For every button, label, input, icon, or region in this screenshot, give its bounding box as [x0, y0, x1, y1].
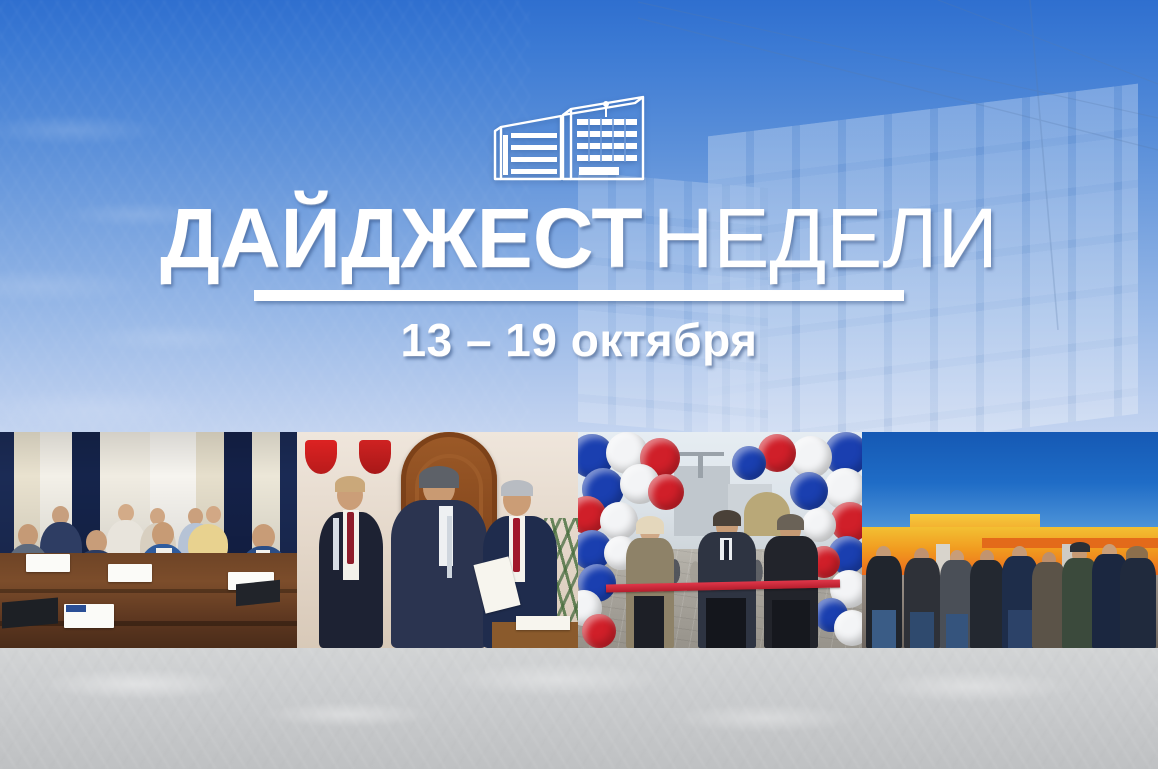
official-hair [335, 476, 365, 492]
digest-poster: ДАЙДЖЕСТНЕДЕЛИ 13 – 19 октября [0, 0, 1158, 769]
participant-legs [772, 600, 810, 648]
title-divider [254, 290, 904, 301]
official-hair [501, 480, 533, 496]
construction-crane-icon [698, 454, 703, 478]
participant-hair [713, 510, 741, 526]
participant-legs [634, 596, 664, 648]
balloon [834, 610, 862, 646]
participant-hair [777, 514, 804, 530]
balloon [732, 446, 766, 480]
photo-construction-site: Групповое фото на стройплощадке у оранже… [862, 432, 1158, 648]
group-member-legs [946, 614, 968, 648]
administration-building-logo-icon [493, 89, 665, 189]
page-title-bold: ДАЙДЖЕСТ [160, 191, 643, 285]
group-member-legs [872, 610, 896, 648]
balloon [582, 614, 616, 648]
photo-officials-office: Должностные лица в костюмах в кабинете с… [297, 432, 578, 648]
official-tie [513, 518, 520, 572]
balloon [648, 474, 684, 510]
photo-council-meeting: Заседание в зале с депутатами за деревян… [0, 432, 297, 648]
laptop [236, 580, 280, 607]
group-member-legs [910, 612, 934, 648]
bottom-texture-band [0, 648, 1158, 769]
photo-strip: Заседание в зале с депутатами за деревян… [0, 432, 1158, 648]
group-member-legs [1008, 610, 1032, 648]
nameplate-badge [66, 605, 86, 612]
participant-hair [636, 516, 664, 534]
desk-nameplate [108, 564, 152, 582]
laptop [2, 598, 58, 629]
group-member-body [970, 560, 1004, 648]
lanyard [333, 518, 339, 570]
lanyard [447, 516, 452, 578]
participant-legs [706, 598, 746, 648]
page-title: ДАЙДЖЕСТНЕДЕЛИ [0, 196, 1158, 280]
attendee-head [206, 506, 221, 523]
desk-papers [516, 616, 570, 630]
balloon [790, 472, 828, 510]
official-hair [419, 466, 459, 488]
participant-tie [724, 540, 729, 560]
dateline: 13 – 19 октября [0, 315, 1158, 365]
group-member-cap-icon [1070, 542, 1090, 552]
construction-crane-icon [678, 452, 724, 456]
group-member-body [1032, 562, 1066, 648]
official-tie [347, 512, 354, 564]
photo-ribbon-cutting: Торжественное перерезание ленты под арко… [578, 432, 862, 648]
logo [484, 86, 674, 192]
title-block: ДАЙДЖЕСТНЕДЕЛИ 13 – 19 октября [0, 196, 1158, 365]
page-title-light: НЕДЕЛИ [643, 191, 998, 285]
balloon [600, 502, 638, 540]
desk-nameplate [26, 554, 70, 572]
bottom-band-texture [0, 648, 1158, 769]
group-member-body [1120, 558, 1156, 648]
